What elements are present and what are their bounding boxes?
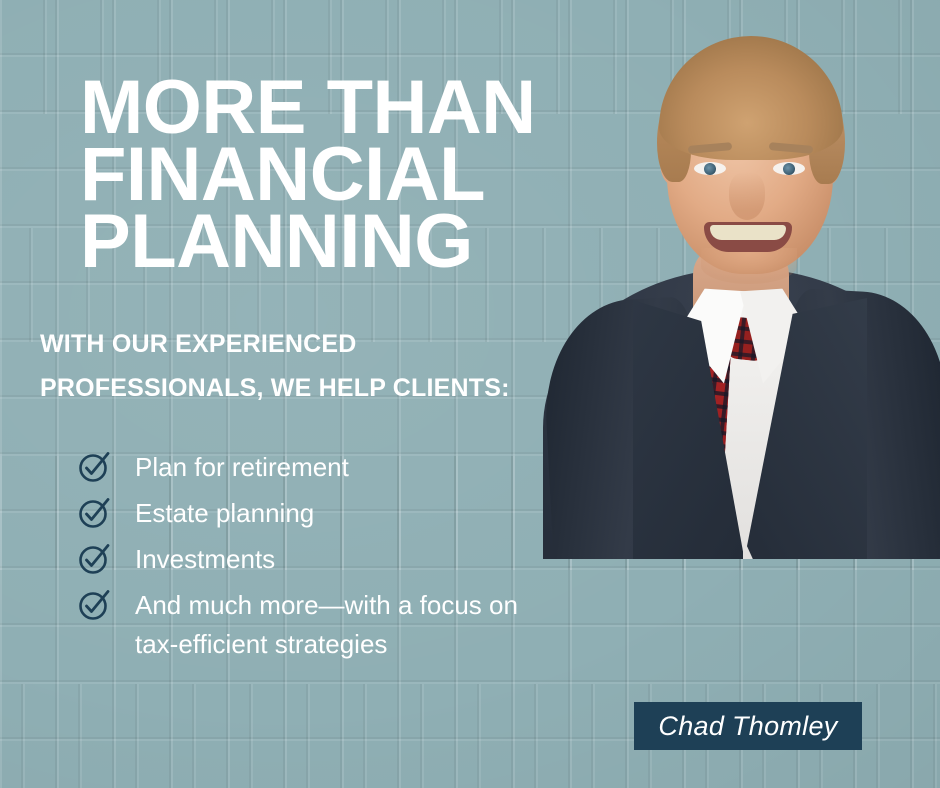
nose: [729, 172, 765, 220]
list-item-label: And much more—with a focus on tax-effici…: [135, 586, 518, 664]
headline: MORE THAN FINANCIAL PLANNING: [80, 74, 620, 275]
iris-left: [704, 163, 716, 175]
chin: [701, 248, 797, 284]
check-circle-icon: [78, 450, 111, 483]
list-item-label: Plan for retirement: [135, 448, 349, 487]
list-item: Estate planning: [78, 494, 638, 533]
name-badge: Chad Thomley: [634, 702, 862, 750]
list-item: And much more—with a focus on tax-effici…: [78, 586, 638, 664]
list-item: Plan for retirement: [78, 448, 638, 487]
mouth: [704, 222, 792, 252]
check-circle-icon: [78, 496, 111, 529]
benefits-list: Plan for retirement Estate planning Inve…: [78, 448, 638, 671]
list-item-label: Estate planning: [135, 494, 314, 533]
name-badge-label: Chad Thomley: [658, 711, 837, 742]
check-circle-icon: [78, 542, 111, 575]
teeth: [710, 225, 786, 240]
list-item: Investments: [78, 540, 638, 579]
eye-right: [773, 162, 805, 175]
hair-top: [659, 36, 843, 160]
list-item-label: Investments: [135, 540, 275, 579]
eye-left: [694, 162, 726, 175]
subheading: WITH OUR EXPERIENCED PROFESSIONALS, WE H…: [40, 322, 580, 410]
promo-graphic: MORE THAN FINANCIAL PLANNING WITH OUR EX…: [0, 0, 940, 788]
iris-right: [783, 163, 795, 175]
check-circle-icon: [78, 588, 111, 621]
